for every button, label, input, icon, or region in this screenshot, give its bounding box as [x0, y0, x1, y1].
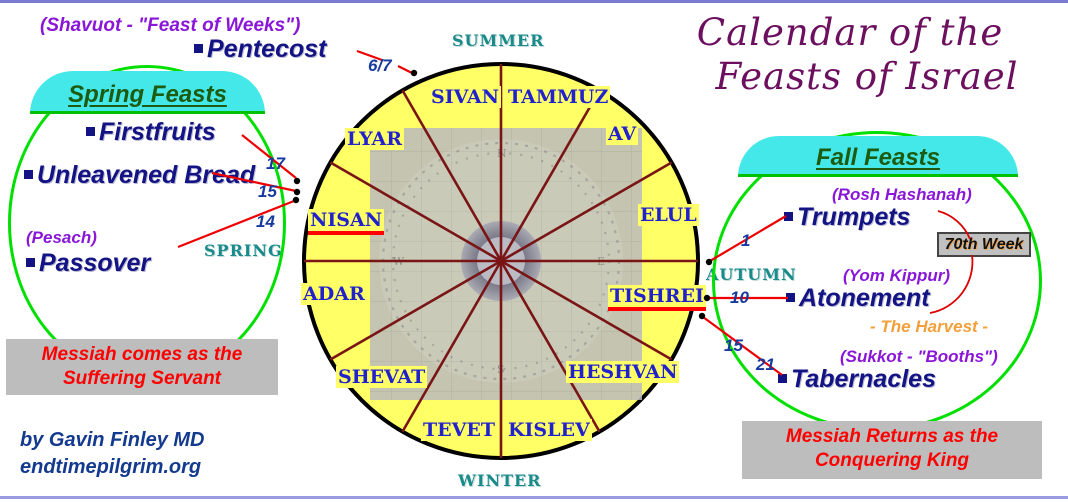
feast-tabernacles: Tabernacles	[778, 365, 936, 394]
author-name: by Gavin Finley MD	[20, 427, 204, 454]
feast-firstfruits: Firstfruits	[86, 118, 216, 147]
bullet-icon	[26, 258, 35, 267]
feast-sub-shavuot: (Shavuot - "Feast of Weeks")	[40, 15, 301, 37]
spring-message-banner: Messiah comes as the Suffering Servant	[6, 339, 278, 395]
banner-line-1: Messiah Returns as the	[748, 425, 1036, 449]
feast-unleavened-bread: Unleavened Bread	[24, 161, 255, 190]
banner-line-2: Suffering Servant	[12, 367, 272, 391]
marker-dot-unleavened	[294, 189, 300, 195]
bullet-icon	[86, 127, 95, 136]
feast-passover: Passover	[26, 249, 150, 278]
month-label-av: AV	[606, 123, 638, 145]
author-credit: by Gavin Finley MD endtimepilgrim.org	[20, 427, 204, 481]
month-label-tevet: TEVET	[421, 419, 497, 441]
bullet-icon	[784, 212, 793, 221]
harvest-note: - The Harvest -	[870, 317, 988, 337]
month-label-shevat: SHEVAT	[336, 366, 427, 388]
month-label-adar: ADAR	[301, 283, 367, 305]
fall-feasts-banner: Fall Feasts	[738, 136, 1018, 177]
season-label-winter: WINTER	[458, 471, 541, 490]
author-website: endtimepilgrim.org	[20, 454, 204, 481]
title-line-1: Calendar of the	[640, 11, 1060, 55]
feast-pentecost: Pentecost	[194, 35, 326, 64]
feast-label: Unleavened Bread	[37, 161, 255, 189]
feast-label: Firstfruits	[99, 118, 216, 146]
month-label-elul: ELUL	[638, 204, 699, 226]
feast-label: Tabernacles	[791, 365, 936, 393]
month-label-sivan: SIVAN	[429, 86, 501, 108]
feast-label: Pentecost	[207, 35, 326, 63]
feast-sub-pesach: (Pesach)	[26, 228, 97, 248]
month-label-nisan: NISAN	[308, 209, 384, 231]
title-line-2: Feasts of Israel	[640, 55, 1060, 99]
fall-message-banner: Messiah Returns as the Conquering King	[742, 421, 1042, 479]
spring-feasts-title: Spring Feasts	[30, 81, 265, 109]
month-label-lyar: LYAR	[345, 128, 404, 150]
month-label-kislev: KISLEV	[506, 419, 592, 441]
wheel-svg: N E S W	[301, 61, 701, 461]
feast-sub-yom-kippur: (Yom Kippur)	[843, 266, 950, 286]
feast-label: Atonement	[799, 284, 930, 312]
bullet-icon	[778, 374, 787, 383]
season-label-summer: SUMMER	[452, 31, 544, 50]
month-label-tishrei: TISHREI	[608, 285, 706, 307]
marker-dot-firstfruits	[294, 178, 300, 184]
page-title: Calendar of the Feasts of Israel	[640, 11, 1060, 99]
feast-atonement: Atonement	[786, 284, 930, 313]
month-label-heshvan: HESHVAN	[566, 361, 679, 383]
calendar-infographic: Calendar of the Feasts of Israel	[0, 0, 1068, 499]
calendar-wheel: N E S W	[301, 61, 701, 461]
spring-feasts-banner: Spring Feasts	[30, 71, 265, 114]
feast-label: Trumpets	[797, 203, 910, 231]
month-label-tammuz: TAMMUZ	[506, 86, 610, 108]
feast-sub-sukkot: (Sukkot - "Booths")	[840, 347, 998, 367]
banner-line-2: Conquering King	[748, 449, 1036, 473]
marker-dot-passover	[293, 197, 299, 203]
feast-sub-rosh-hashanah: (Rosh Hashanah)	[832, 185, 972, 205]
fall-feasts-title: Fall Feasts	[738, 144, 1018, 172]
banner-line-1: Messiah comes as the	[12, 343, 272, 367]
leader-pentecost	[357, 51, 382, 60]
bullet-icon	[194, 44, 203, 53]
feast-label: Passover	[39, 249, 150, 277]
bullet-icon	[24, 170, 33, 179]
feast-trumpets: Trumpets	[784, 203, 910, 232]
bullet-icon	[786, 293, 795, 302]
seventieth-week-badge: 70th Week	[937, 232, 1031, 257]
